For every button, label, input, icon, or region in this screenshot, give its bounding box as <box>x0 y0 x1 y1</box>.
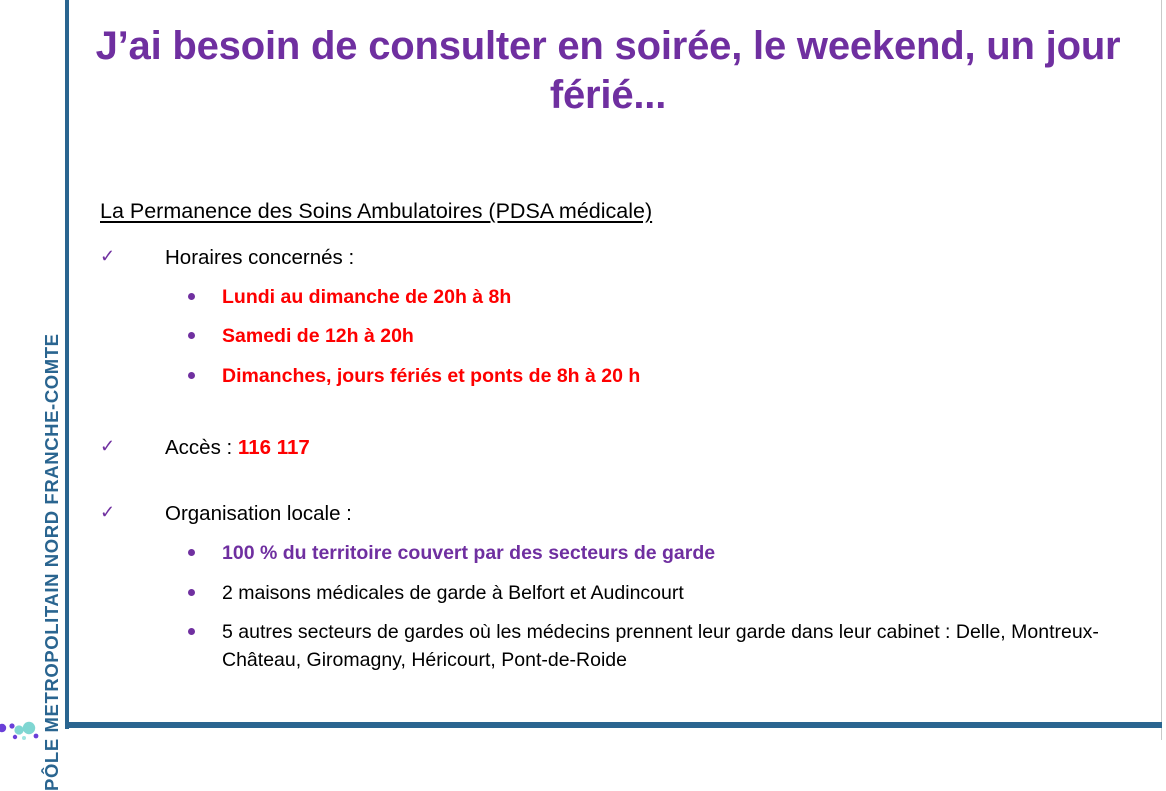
bullet-dot-icon <box>188 628 195 635</box>
list-item-text: 100 % du territoire couvert par des sect… <box>222 542 715 564</box>
list-item: Dimanches, jours fériés et ponts de 8h à… <box>100 363 1120 391</box>
check-icon: ✓ <box>100 244 120 269</box>
list-item-text: Lundi au dimanche de 20h à 8h <box>222 286 511 308</box>
list-item: 100 % du territoire couvert par des sect… <box>100 540 1120 568</box>
section-heading: La Permanence des Soins Ambulatoires (PD… <box>100 198 652 225</box>
group-acces: ✓ Accès : 116 117 <box>100 434 1120 462</box>
list-item-text: 2 maisons médicales de garde à Belfort e… <box>222 582 684 604</box>
bullet-dot-icon <box>188 372 195 379</box>
bullet-dot-icon <box>188 293 195 300</box>
group-label-text: Organisation locale : <box>165 502 352 525</box>
group-organisation: ✓ Organisation locale : 100 % du territo… <box>100 500 1120 674</box>
group-label-acces: ✓ Accès : 116 117 <box>100 434 1120 462</box>
check-icon: ✓ <box>100 500 120 525</box>
frame-horizontal-rule <box>65 722 1162 728</box>
slide-right-edge-rule <box>1161 0 1162 740</box>
check-icon: ✓ <box>100 434 120 459</box>
spacer <box>100 461 1120 491</box>
slide-canvas: PÔLE METROPOLITAIN NORD FRANCHE-COMTE J’… <box>0 0 1166 740</box>
list-item: 2 maisons médicales de garde à Belfort e… <box>100 580 1120 608</box>
list-item: Lundi au dimanche de 20h à 8h <box>100 284 1120 312</box>
bullet-dot-icon <box>188 589 195 596</box>
list-item: 5 autres secteurs de gardes où les médec… <box>100 619 1120 674</box>
list-item-text: Dimanches, jours fériés et ponts de 8h à… <box>222 365 640 387</box>
bullet-dot-icon <box>188 332 195 339</box>
list-item: Samedi de 12h à 20h <box>100 323 1120 351</box>
bullet-dot-icon <box>188 549 195 556</box>
frame-vertical-rule <box>65 0 69 729</box>
bullet-list-organisation: 100 % du territoire couvert par des sect… <box>100 540 1120 675</box>
list-item-text: 5 autres secteurs de gardes où les médec… <box>222 621 1099 671</box>
dot-cluster-logo <box>0 714 44 740</box>
list-item-text: Samedi de 12h à 20h <box>222 325 414 347</box>
sidebar-vertical-label: PÔLE METROPOLITAIN NORD FRANCHE-COMTE <box>41 91 63 791</box>
spacer <box>100 391 1120 425</box>
group-label-text: Horaires concernés : <box>165 246 354 269</box>
group-label-text: Accès : <box>165 436 238 459</box>
slide-body: La Permanence des Soins Ambulatoires (PD… <box>100 198 1120 675</box>
bullet-list-horaires: Lundi au dimanche de 20h à 8h Samedi de … <box>100 284 1120 391</box>
page-title: J’ai besoin de consulter en soirée, le w… <box>92 22 1124 120</box>
phone-number-value: 116 117 <box>238 436 310 459</box>
group-horaires: ✓ Horaires concernés : Lundi au dimanche… <box>100 244 1120 391</box>
group-label-horaires: ✓ Horaires concernés : <box>100 244 1120 272</box>
group-label-organisation: ✓ Organisation locale : <box>100 500 1120 528</box>
